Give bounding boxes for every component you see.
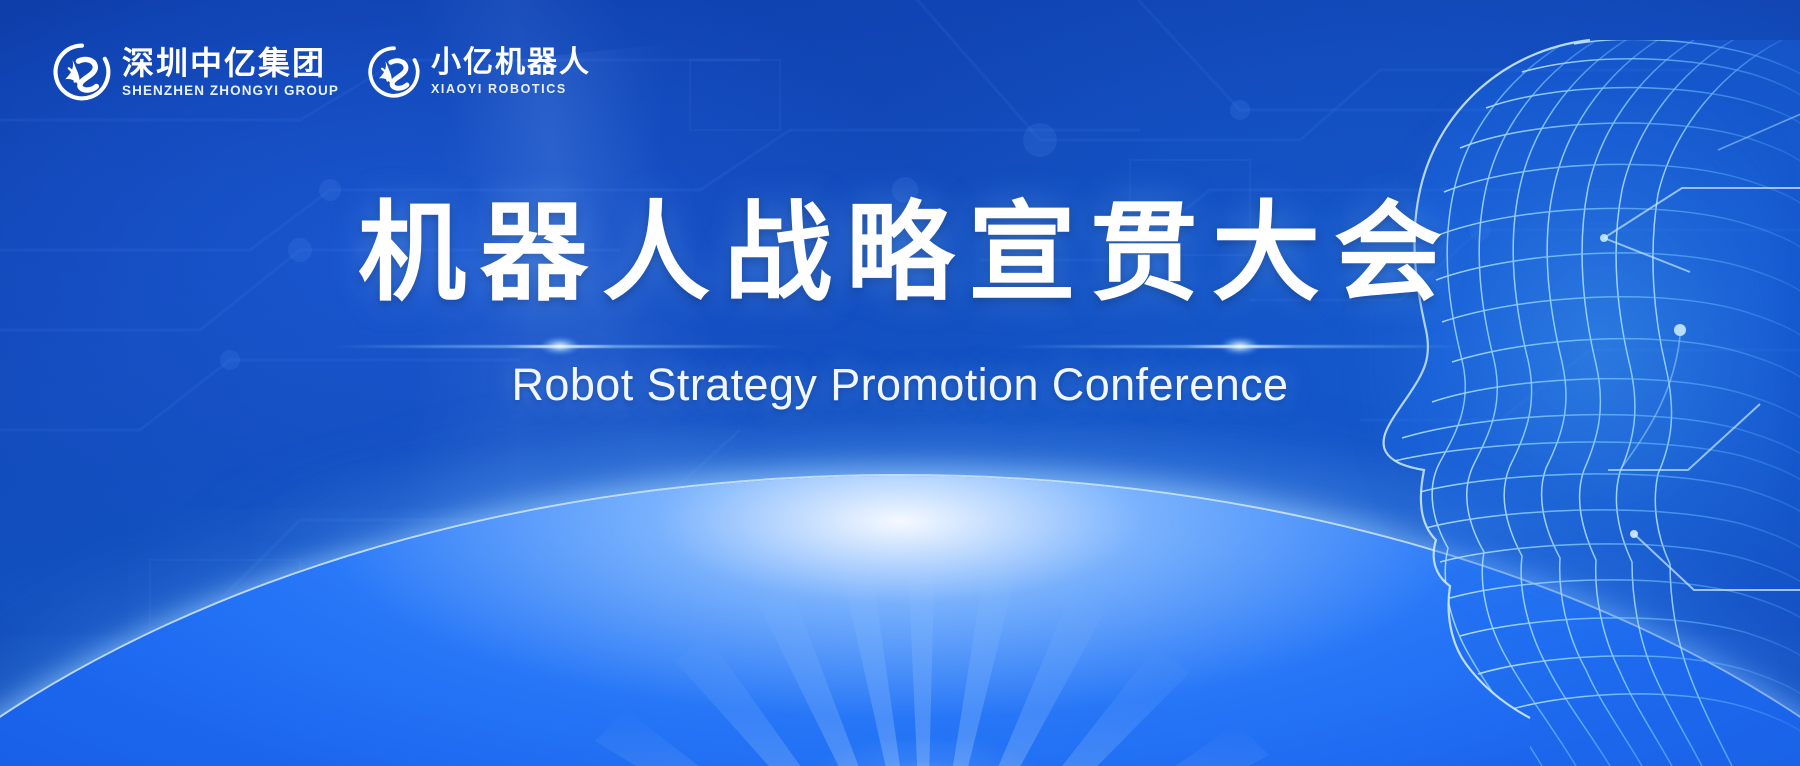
headline-block: 机器人战略宣贯大会 Robot Strategy Promotion Confe… — [0, 196, 1800, 413]
subtitle-row: Robot Strategy Promotion Conference — [0, 339, 1800, 413]
earth-sphere — [0, 476, 1800, 766]
light-sweep-left — [0, 0, 1185, 766]
page-title: 机器人战略宣贯大会 — [344, 196, 1456, 313]
earth-horizon — [0, 346, 1800, 766]
logo-bar: 深圳中亿集团 SHENZHEN ZHONGYI GROUP 小亿机器人 XIAO… — [52, 42, 591, 102]
xiaoyi-circle-emblem-icon — [367, 45, 421, 99]
light-streak-right-icon — [1010, 345, 1470, 348]
sunburst-rays — [455, 521, 1395, 766]
zhongyi-circle-emblem-icon — [52, 42, 112, 102]
logo-cn-label: 深圳中亿集团 — [122, 47, 339, 79]
wireframe-head-glow — [1350, 90, 1780, 650]
logo-en-label: SHENZHEN ZHONGYI GROUP — [122, 84, 339, 98]
vignette — [0, 0, 1800, 766]
logo-shenzhen-zhongyi-group[interactable]: 深圳中亿集团 SHENZHEN ZHONGYI GROUP — [52, 42, 339, 102]
logo-xiaoyi-robotics[interactable]: 小亿机器人 XIAOYI ROBOTICS — [367, 45, 591, 99]
horizon-glow — [0, 384, 1800, 534]
light-streak-left-icon — [330, 345, 790, 348]
logo-en-label: XIAOYI ROBOTICS — [431, 83, 591, 96]
event-banner: 深圳中亿集团 SHENZHEN ZHONGYI GROUP 小亿机器人 XIAO… — [0, 0, 1800, 766]
wireframe-head-profile — [1290, 0, 1800, 766]
earth-city-lights — [0, 476, 1800, 766]
logo-cn-label: 小亿机器人 — [431, 48, 591, 78]
circuit-traces-background — [0, 0, 1800, 766]
page-subtitle: Robot Strategy Promotion Conference — [0, 359, 1800, 411]
light-sweep-right — [36, 0, 1152, 766]
sun-core-glow — [775, 741, 1075, 766]
